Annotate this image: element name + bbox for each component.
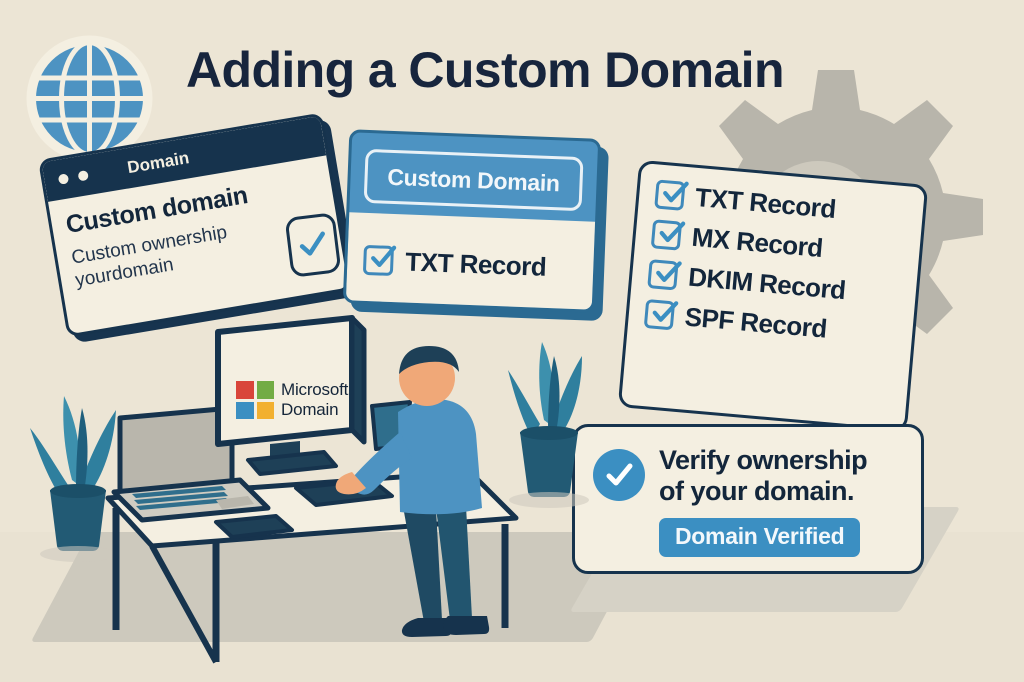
checkbox-checked-icon xyxy=(644,299,675,330)
checkbox-checked-icon xyxy=(363,245,394,276)
microsoft-logo-icon xyxy=(236,381,274,419)
check-icon xyxy=(296,228,329,261)
browser-titlebar-label: Domain xyxy=(126,148,191,178)
potted-plant-icon xyxy=(30,396,116,562)
dns-records-checklist-card: TXT Record MX Record DKIM Record SPF Rec… xyxy=(618,160,929,432)
illustration-canvas: Adding a Custom Domain Domain Custom dom… xyxy=(0,0,1024,682)
ownership-check-badge xyxy=(285,212,342,278)
verify-ownership-line1: Verify ownership xyxy=(659,445,867,476)
page-title: Adding a Custom Domain xyxy=(186,41,784,99)
custom-domain-card-face: Custom Domain TXT Record xyxy=(343,129,601,313)
checkbox-checked-icon xyxy=(654,179,685,210)
microsoft-brand-text: Microsoft Domain xyxy=(281,380,348,419)
microsoft-brand-line1: Microsoft xyxy=(281,380,348,400)
checklist-item-label: MX Record xyxy=(690,222,824,264)
checklist-item-label: DKIM Record xyxy=(687,262,847,307)
microsoft-brand-line2: Domain xyxy=(281,400,348,420)
verify-ownership-text-block: Verify ownership of your domain. Domain … xyxy=(659,445,867,557)
custom-domain-card-row: TXT Record xyxy=(346,212,601,312)
microsoft-brand-block: Microsoft Domain xyxy=(236,372,354,428)
checklist-item-label: TXT Record xyxy=(694,182,837,225)
checklist-item-label: SPF Record xyxy=(683,301,828,344)
checkbox-checked-icon xyxy=(647,259,678,290)
checkbox-checked-icon xyxy=(651,219,682,250)
custom-domain-card: Custom Domain TXT Record xyxy=(343,129,601,313)
workspace-illustration xyxy=(0,300,640,682)
window-dot-icon xyxy=(58,173,70,185)
custom-domain-card-header: Custom Domain xyxy=(364,149,584,211)
verify-ownership-line2: of your domain. xyxy=(659,476,867,507)
potted-plant-icon xyxy=(508,342,589,508)
custom-domain-card-item-label: TXT Record xyxy=(405,246,547,282)
window-dot-icon xyxy=(77,170,89,182)
status-badge: Domain Verified xyxy=(659,518,860,557)
